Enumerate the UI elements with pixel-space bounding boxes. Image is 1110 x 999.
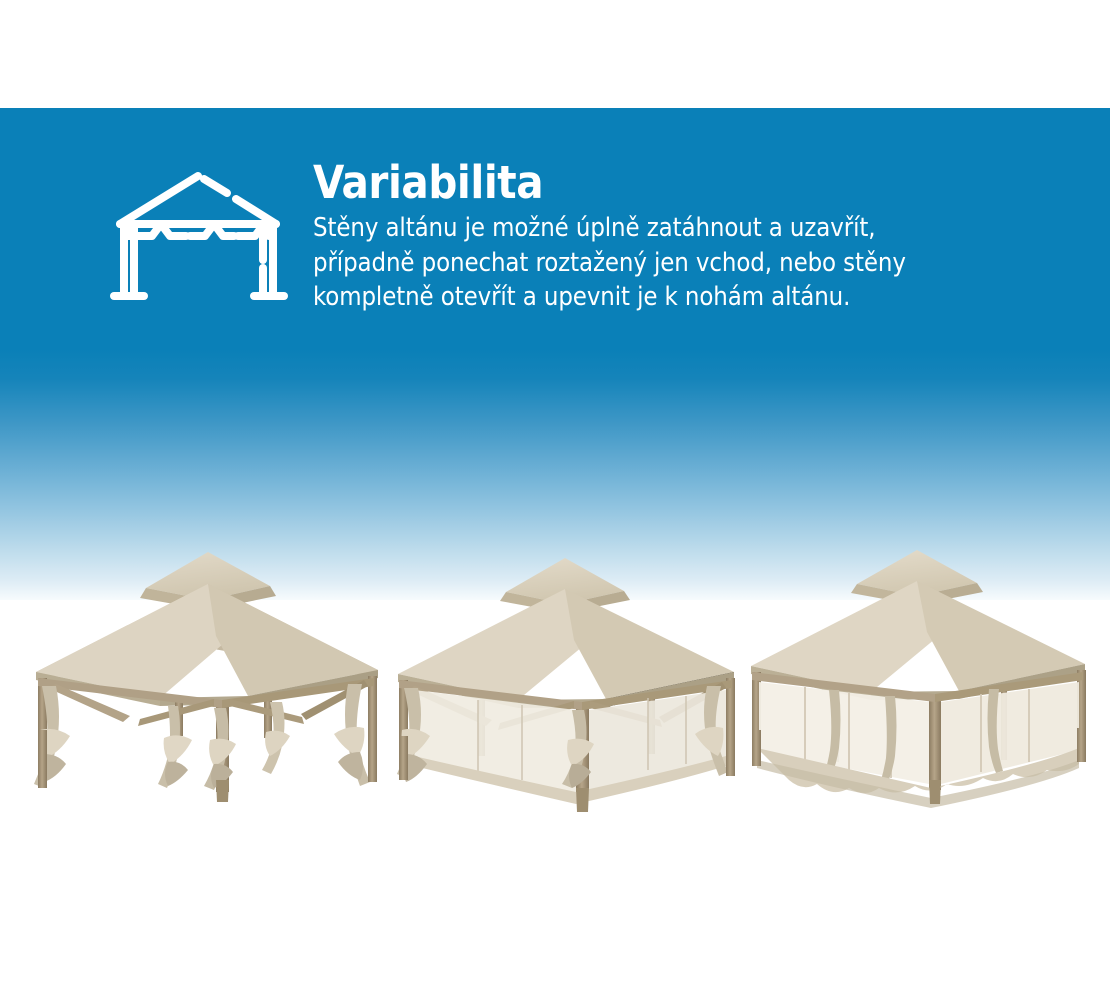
page-root: Variabilita Stěny altánu je možné úplně … [0, 0, 1110, 999]
product-image-row [0, 520, 1110, 850]
page-title: Variabilita [313, 160, 1033, 205]
product-image-gazebo-walls-open [18, 540, 393, 840]
product-image-gazebo-entrance-open [390, 544, 745, 844]
banner-copy: Variabilita Stěny altánu je možné úplně … [313, 160, 1033, 315]
gazebo-outline-icon [108, 168, 288, 313]
feature-banner: Variabilita Stěny altánu je možné úplně … [0, 108, 1110, 355]
banner-description: Stěny altánu je možné úplně zatáhnout a … [313, 211, 1033, 315]
product-image-gazebo-walls-closed [745, 532, 1095, 832]
